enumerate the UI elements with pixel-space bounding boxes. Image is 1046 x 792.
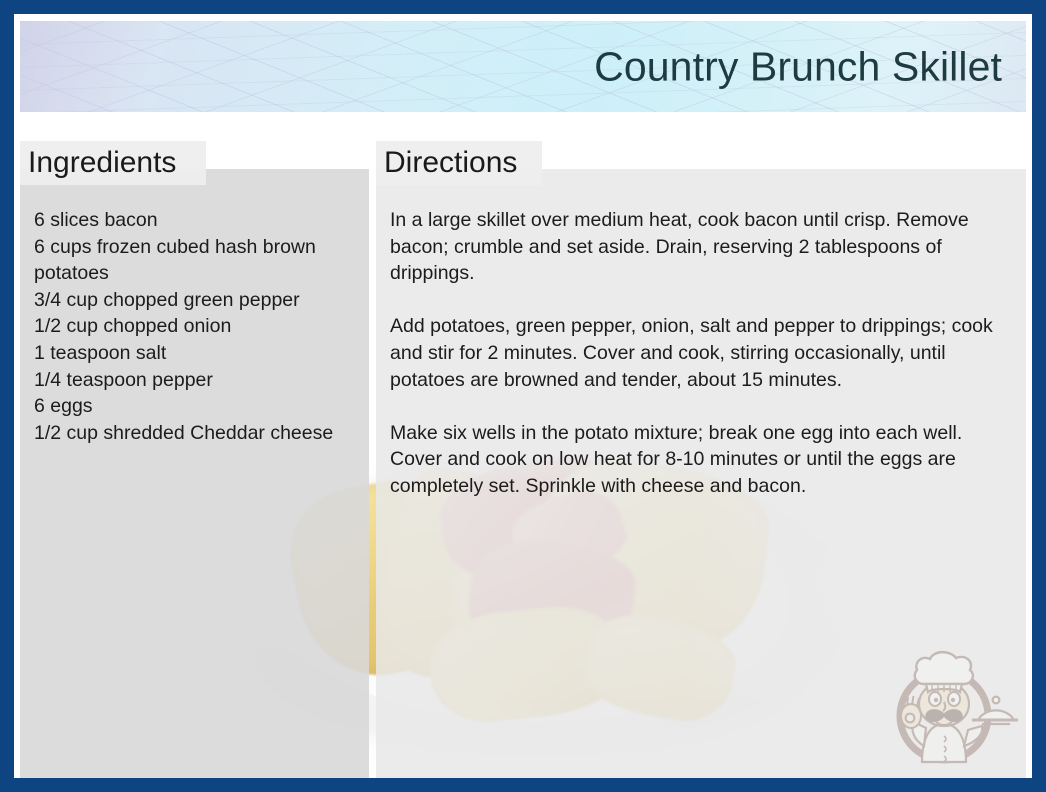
ingredients-heading: Ingredients (20, 141, 206, 185)
page-title: Country Brunch Skillet (594, 46, 1002, 87)
directions-paragraph: In a large skillet over medium heat, coo… (390, 207, 1012, 287)
list-item: 1/4 teaspoon pepper (34, 367, 355, 394)
directions-paragraph: Add potatoes, green pepper, onion, salt … (390, 313, 1012, 393)
list-item: 6 slices bacon (34, 207, 355, 234)
list-item: 3/4 cup chopped green pepper (34, 287, 355, 314)
ingredients-list: 6 slices bacon 6 cups frozen cubed hash … (20, 185, 369, 446)
title-banner: Country Brunch Skillet (20, 21, 1026, 112)
chef-logo-icon (886, 642, 1018, 770)
list-item: 1/2 cup shredded Cheddar cheese (34, 420, 355, 447)
slide-content-area: Country Brunch Skillet Ingredients (14, 14, 1032, 778)
directions-paragraph: Make six wells in the potato mixture; br… (390, 420, 1012, 500)
list-item: 1/2 cup chopped onion (34, 313, 355, 340)
directions-heading: Directions (376, 141, 542, 185)
list-item: 6 cups frozen cubed hash brown potatoes (34, 234, 355, 287)
ingredients-column: Ingredients 6 slices bacon 6 cups frozen… (20, 169, 369, 778)
directions-body: In a large skillet over medium heat, coo… (376, 185, 1026, 500)
list-item: 1 teaspoon salt (34, 340, 355, 367)
list-item: 6 eggs (34, 393, 355, 420)
recipe-card-slide: Country Brunch Skillet Ingredients (0, 0, 1046, 792)
